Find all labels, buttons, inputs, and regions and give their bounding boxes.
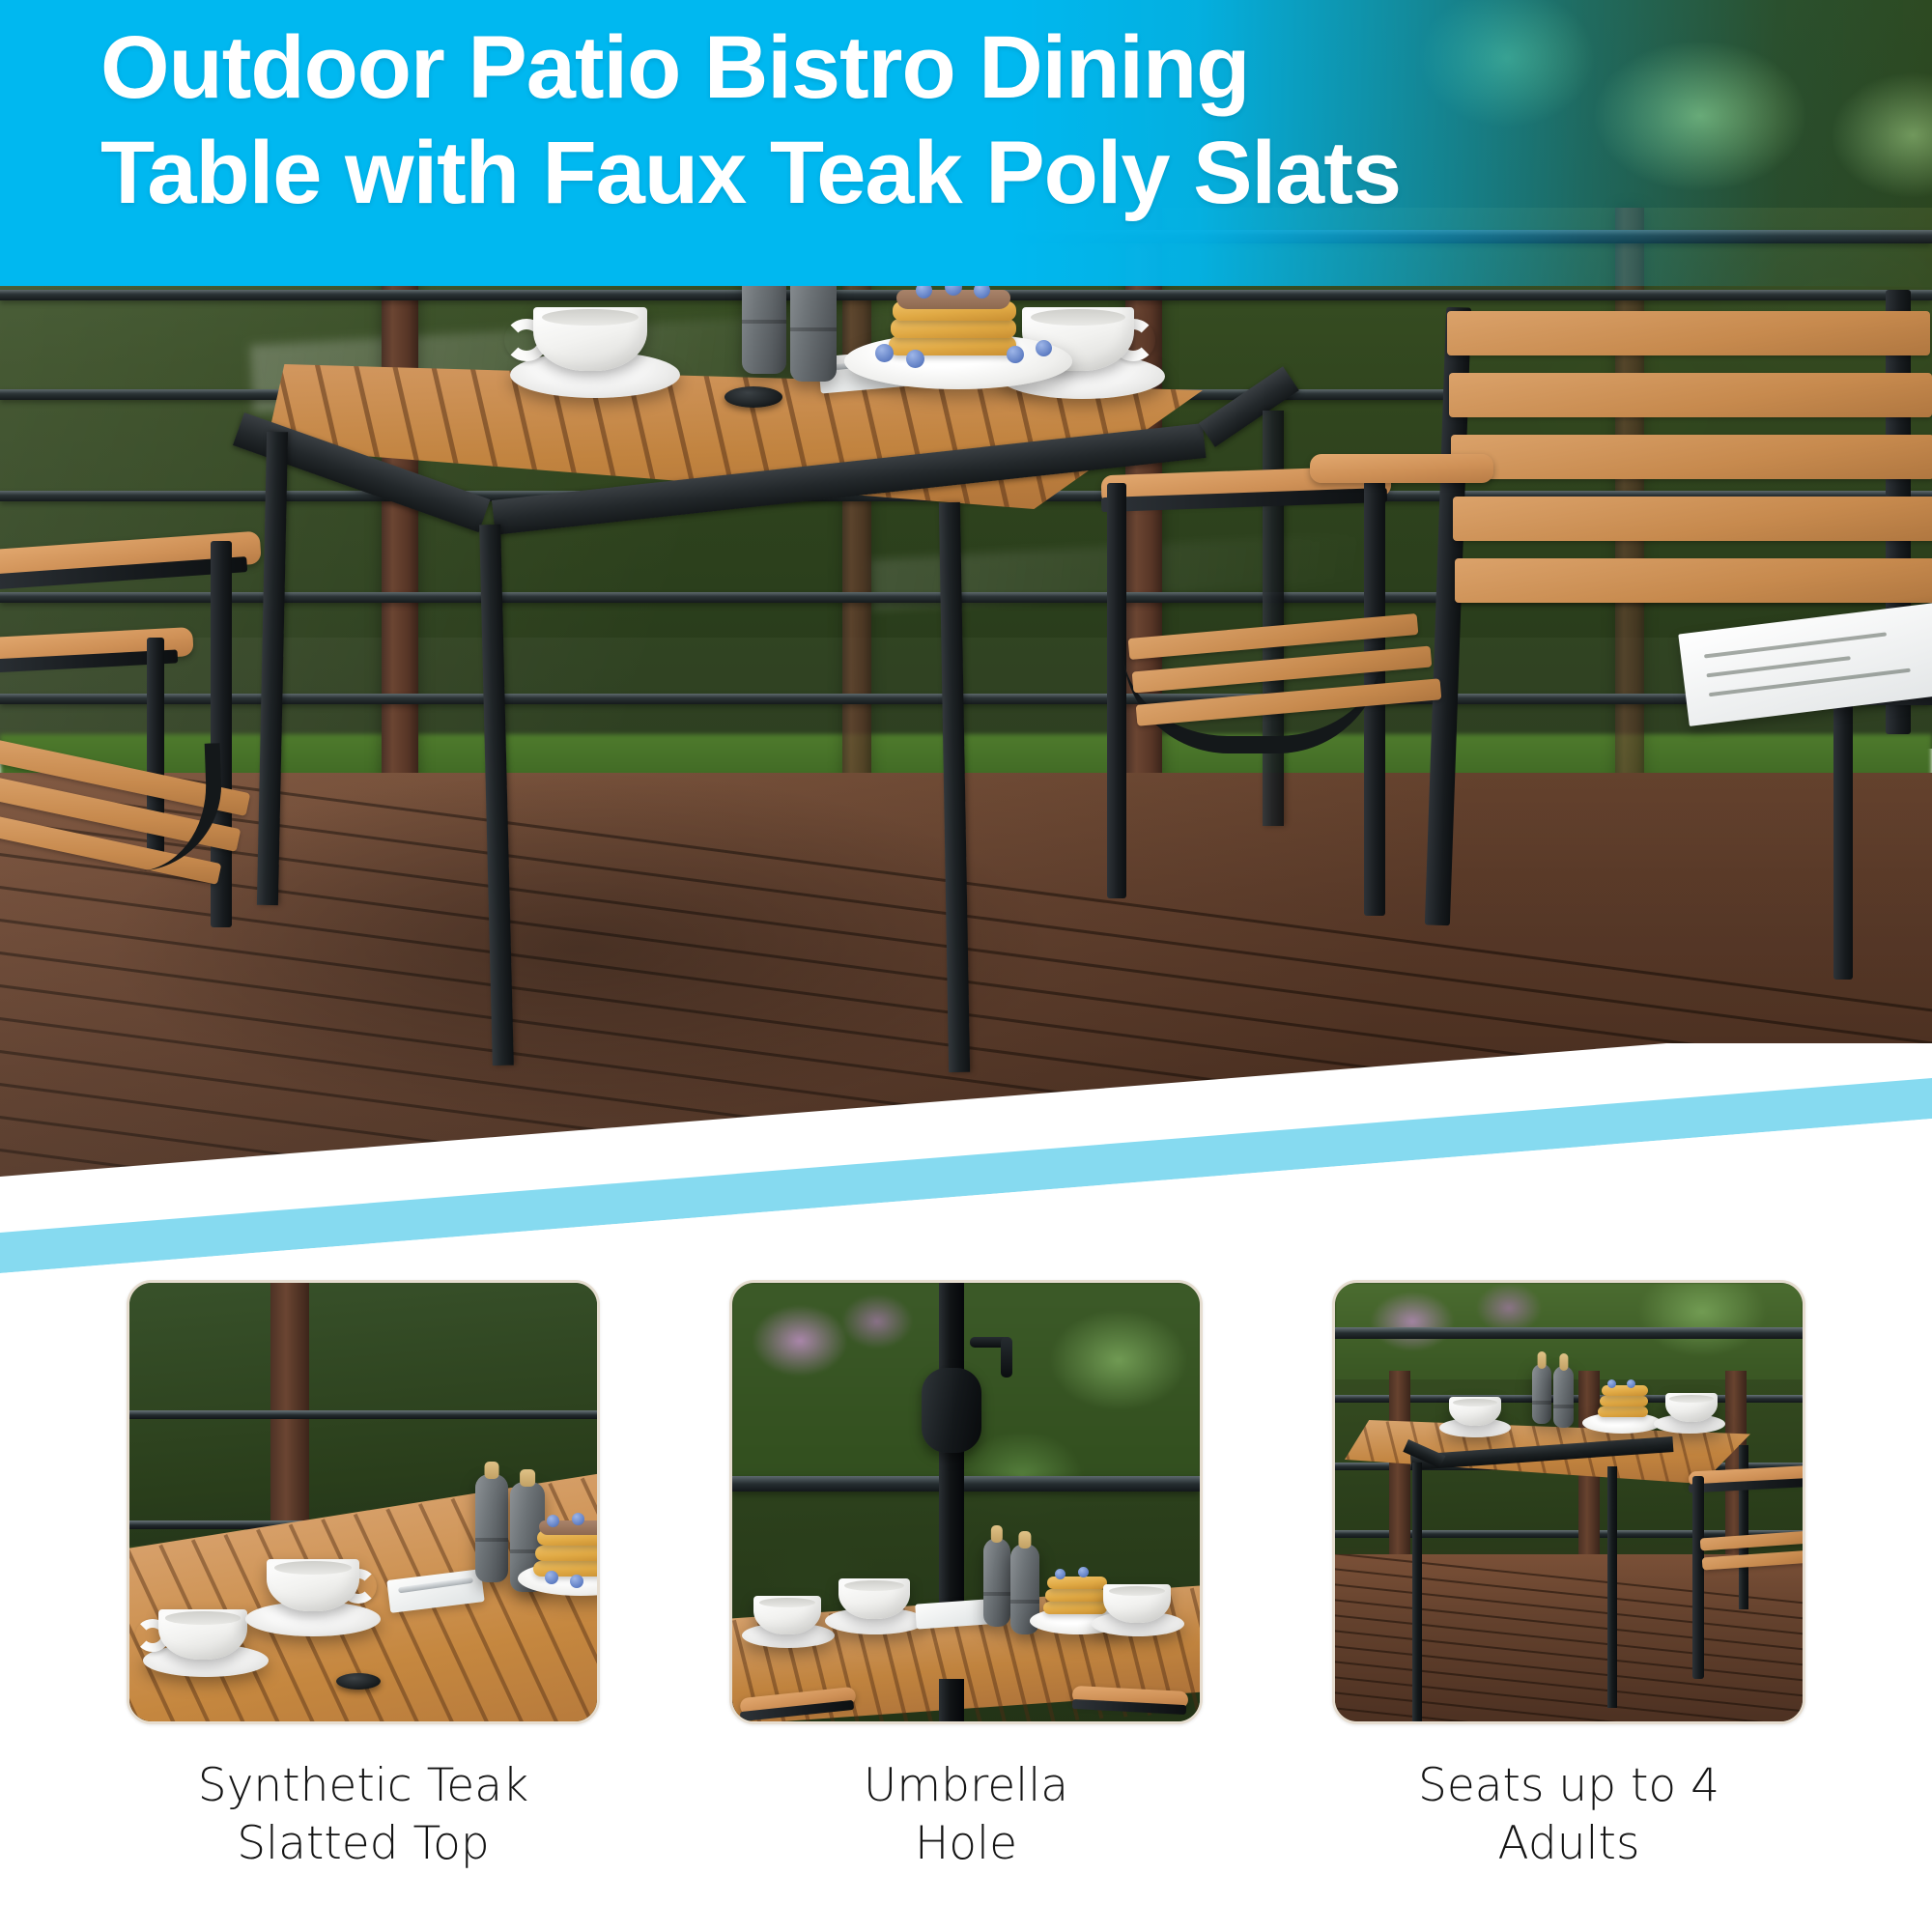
blueberry xyxy=(1007,346,1024,363)
caption-line-1: Seats up to 4 xyxy=(1418,1757,1719,1815)
waffle xyxy=(1600,1396,1648,1406)
blueberry xyxy=(572,1513,584,1525)
pepper-grinder xyxy=(475,1474,508,1582)
umbrella-crank-arm xyxy=(1001,1337,1012,1378)
feature-item-umbrella-hole: Umbrella Hole xyxy=(729,1280,1203,1873)
caption-line-2: Slatted Top xyxy=(198,1815,529,1873)
feature-thumbnail-seats-four[interactable] xyxy=(1332,1280,1805,1724)
waffle xyxy=(1598,1406,1648,1417)
tabletop-slat xyxy=(650,308,724,611)
waffle xyxy=(533,1561,597,1577)
feature-thumbnail-umbrella-hole[interactable] xyxy=(729,1280,1203,1724)
title-line-1: Outdoor Patio Bistro Dining xyxy=(100,15,1917,121)
blueberry xyxy=(545,1571,558,1584)
feature-caption-slatted-top: Synthetic Teak Slatted Top xyxy=(198,1757,529,1873)
deck-floor xyxy=(1335,1554,1803,1721)
railing-post xyxy=(1389,1371,1410,1573)
caption-line-2: Hole xyxy=(864,1815,1068,1873)
tabletop-slat xyxy=(380,308,454,611)
chair-front-post xyxy=(1833,690,1853,980)
caption-line-1: Synthetic Teak xyxy=(198,1757,529,1815)
chair-back-slat xyxy=(1455,558,1932,603)
diagonal-divider xyxy=(0,1043,1932,1294)
blueberry xyxy=(547,1515,559,1527)
feature-caption-seats-four: Seats up to 4 Adults xyxy=(1418,1757,1719,1873)
waffle xyxy=(891,319,1016,338)
feature-row: Synthetic Teak Slatted Top xyxy=(0,1280,1932,1932)
chair-armrest xyxy=(1310,454,1493,483)
blueberry xyxy=(875,344,894,362)
caption-line-2: Adults xyxy=(1418,1815,1719,1873)
divider-shape xyxy=(0,1043,1932,1294)
blueberry xyxy=(1607,1379,1616,1388)
railing-top-rail xyxy=(732,1476,1200,1492)
umbrella-crank-housing xyxy=(922,1368,981,1453)
blueberry xyxy=(1078,1567,1089,1577)
table-leg xyxy=(1607,1466,1617,1708)
pepper-grinder xyxy=(1532,1364,1551,1424)
feature-item-slatted-top: Synthetic Teak Slatted Top xyxy=(127,1280,600,1873)
table-leg xyxy=(1412,1463,1422,1721)
chair-post xyxy=(1107,483,1126,898)
deck-plank xyxy=(1335,1668,1803,1721)
waffle xyxy=(1045,1589,1107,1602)
blueberry xyxy=(906,350,924,368)
waffle xyxy=(535,1546,597,1561)
blueberry xyxy=(1036,340,1052,356)
blueberry xyxy=(1055,1569,1065,1579)
umbrella-pole-lower xyxy=(939,1679,964,1721)
feature-item-seats-four: Seats up to 4 Adults xyxy=(1332,1280,1805,1873)
blueberry xyxy=(1627,1379,1635,1388)
table-leg xyxy=(257,432,288,905)
tabletop-slat xyxy=(1191,308,1265,611)
chair-post xyxy=(1692,1476,1704,1679)
page-title: Outdoor Patio Bistro Dining Table with F… xyxy=(100,15,1917,225)
salt-grinder xyxy=(1553,1366,1574,1428)
product-marketing-image: Outdoor Patio Bistro Dining Table with F… xyxy=(0,0,1932,1932)
caption-line-1: Umbrella xyxy=(864,1757,1068,1815)
chair-back-slat xyxy=(1449,373,1932,417)
blueberry xyxy=(570,1575,583,1588)
chair-back-slat xyxy=(1447,311,1930,355)
feature-thumbnail-slatted-top[interactable] xyxy=(127,1280,600,1724)
napkin xyxy=(915,1599,990,1629)
title-line-2: Table with Faux Teak Poly Slats xyxy=(100,121,1917,226)
railing-top-rail xyxy=(1335,1327,1803,1339)
feature-caption-umbrella-hole: Umbrella Hole xyxy=(864,1757,1068,1873)
railing-cable xyxy=(129,1410,597,1419)
waffle xyxy=(1043,1602,1107,1614)
umbrella-hole-cap xyxy=(336,1673,381,1690)
umbrella-hole-cap xyxy=(724,386,782,408)
chair-back-slat xyxy=(1451,435,1932,479)
table-apron-right xyxy=(1199,366,1299,447)
chair-back-slat xyxy=(1453,497,1932,541)
pepper-grinder xyxy=(983,1538,1010,1627)
